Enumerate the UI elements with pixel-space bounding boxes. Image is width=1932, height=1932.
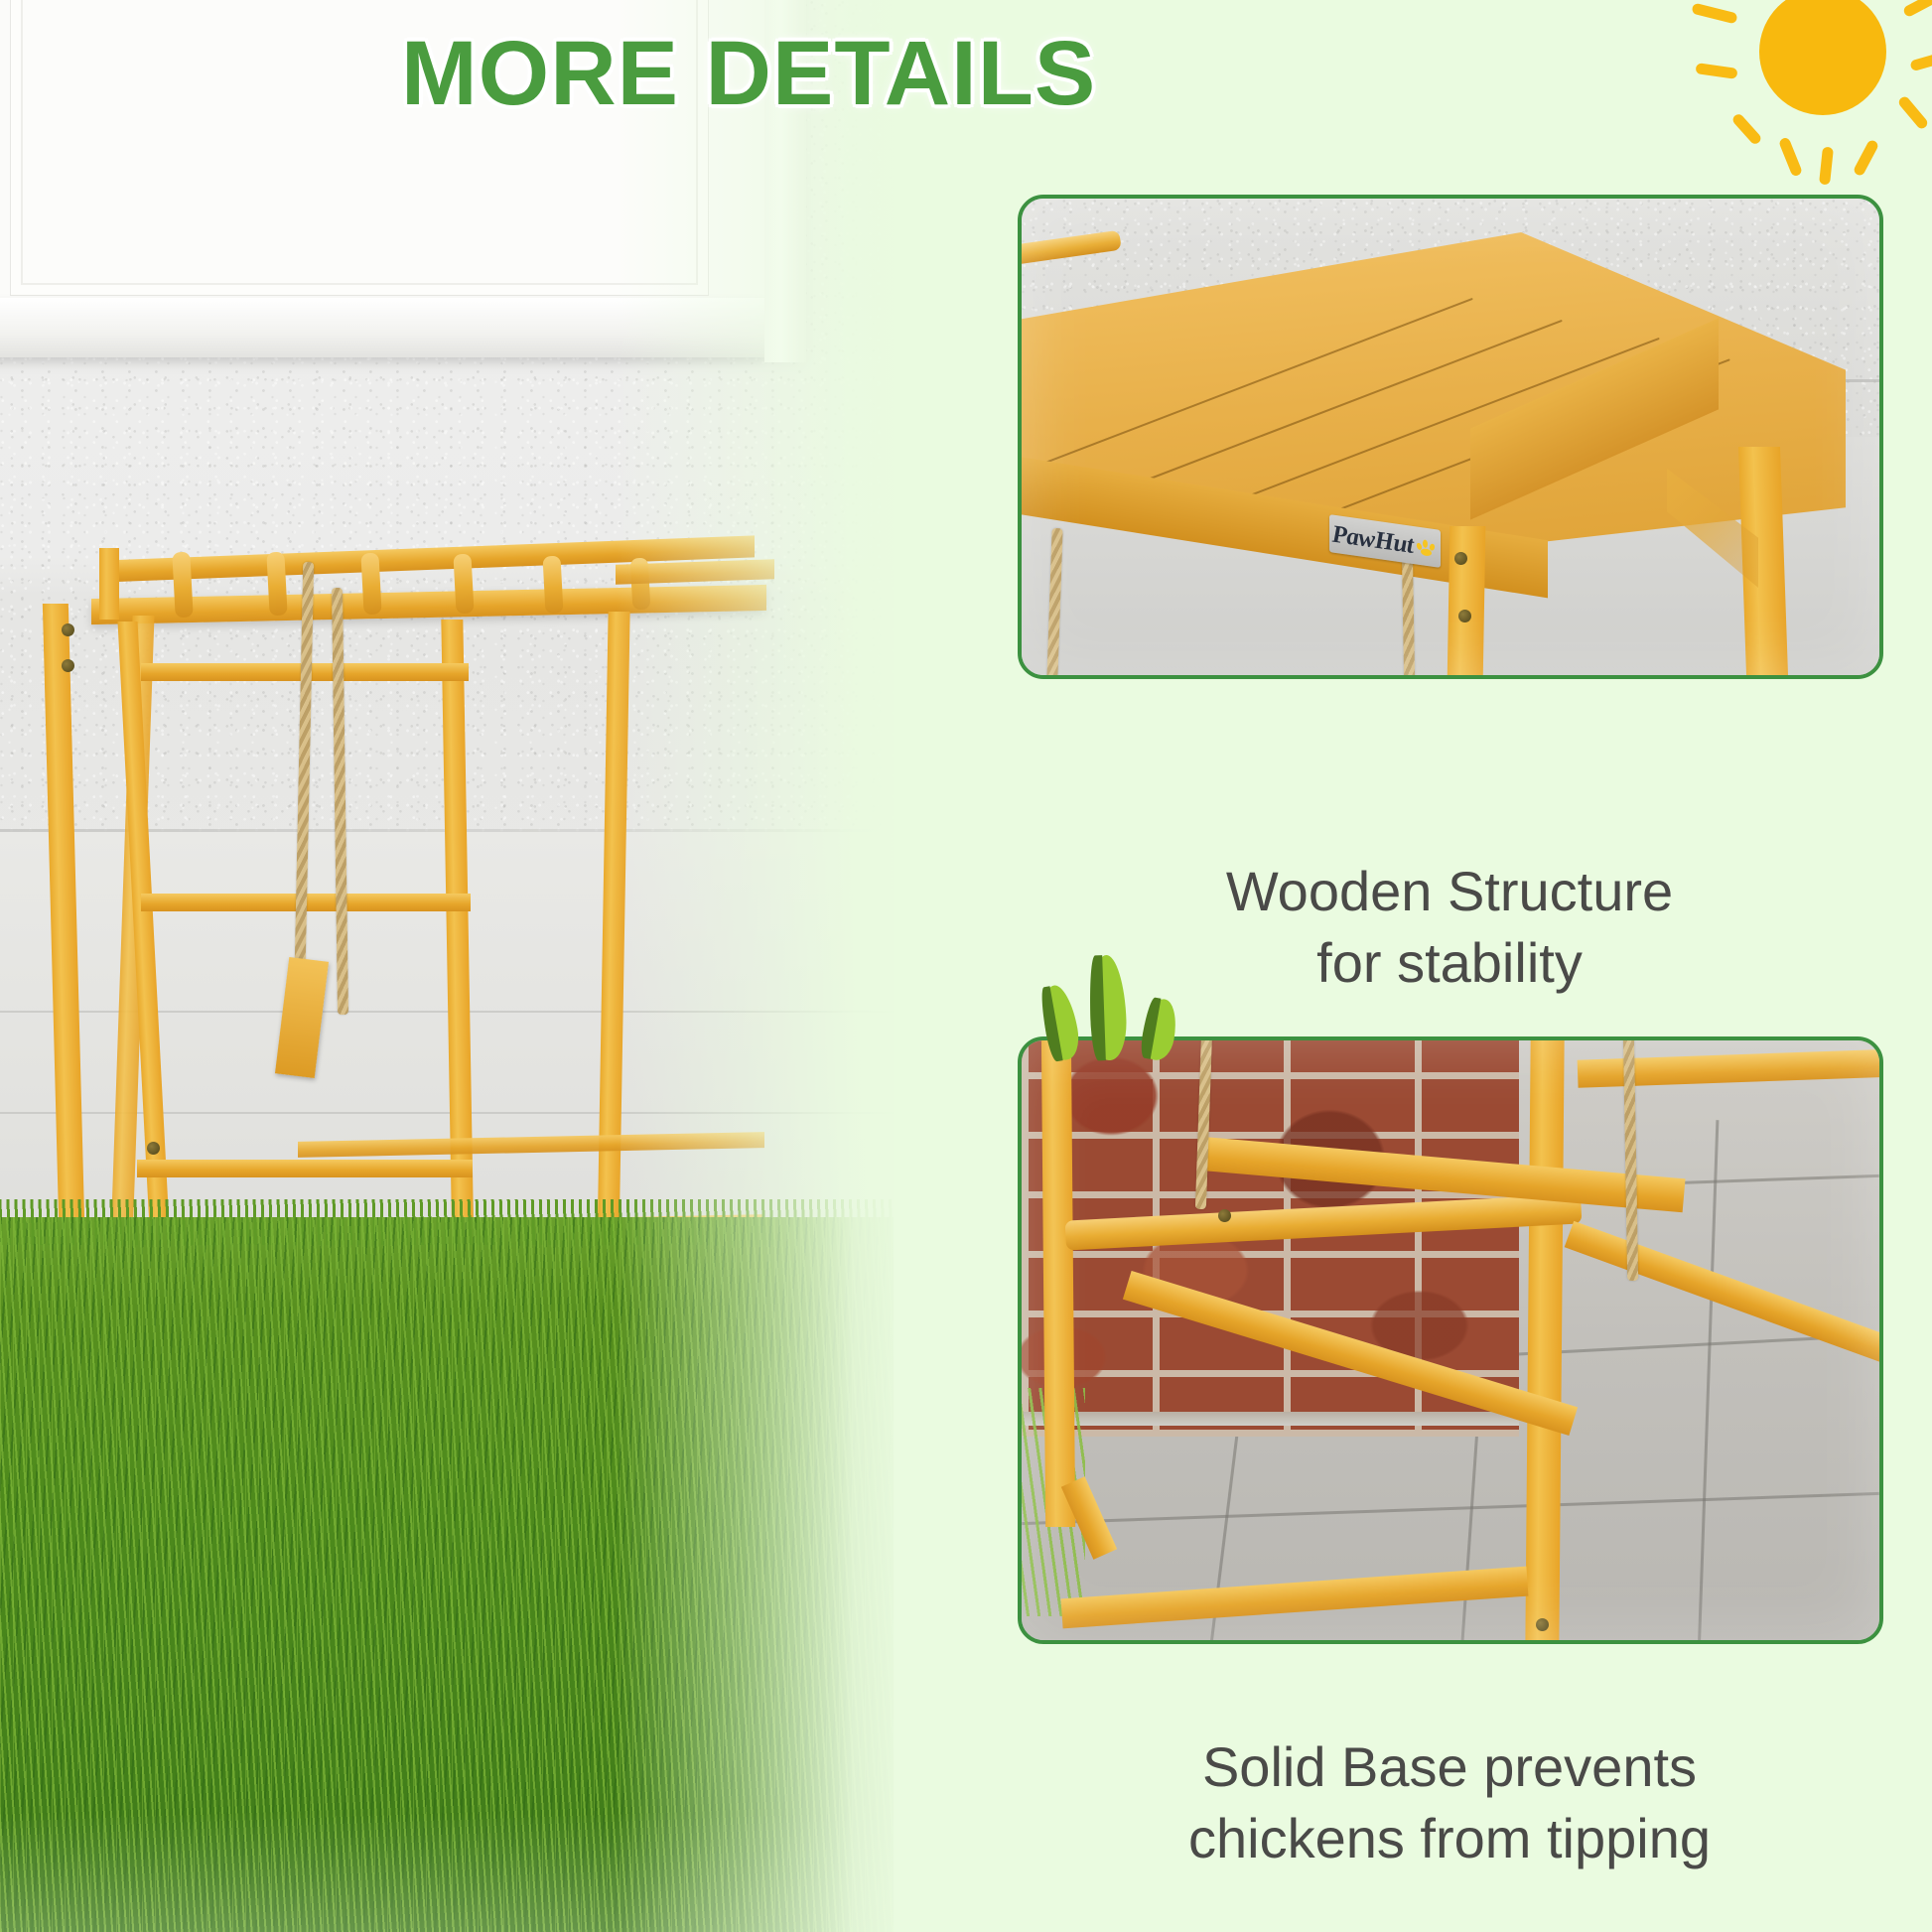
detail-photo-wooden-structure: PawHut — [1018, 195, 1883, 679]
swing-rope-right — [1402, 552, 1415, 679]
sun-icon — [1600, 0, 1932, 207]
screw — [1458, 610, 1471, 622]
sun-ray — [1902, 0, 1932, 18]
screw — [1536, 1618, 1549, 1631]
sun-ray — [1691, 3, 1737, 25]
sun-ray — [1778, 136, 1803, 177]
caption-wooden-structure: Wooden Structure for stability — [993, 856, 1906, 998]
table-leg-front — [1448, 526, 1486, 679]
brick-wall-base — [1022, 1412, 1519, 1426]
screw — [62, 623, 74, 636]
hero-bottom-fade — [0, 1813, 894, 1932]
detail-photo-solid-base — [1018, 1036, 1883, 1644]
monkey-bar-dowel — [172, 552, 193, 619]
caption-solid-base: Solid Base prevents chickens from tippin… — [993, 1731, 1906, 1873]
sun-ray — [1730, 112, 1762, 146]
monkey-bar-dowel — [542, 556, 563, 615]
paver-joint — [1698, 1120, 1720, 1644]
screw — [1454, 552, 1467, 565]
monkey-bar-dowel — [266, 552, 287, 617]
screw — [1218, 1209, 1231, 1222]
slat-groove — [1036, 298, 1472, 467]
sun-ray — [1695, 63, 1737, 79]
frame-top-left-post — [99, 548, 119, 620]
base-post-left — [1041, 1036, 1075, 1527]
paver-joint — [1022, 1492, 1879, 1525]
caption-line-2: for stability — [993, 927, 1906, 999]
sun-ray — [1897, 94, 1930, 130]
ladder-rung — [137, 1160, 473, 1177]
caption-line-1: Wooden Structure — [993, 856, 1906, 927]
screw — [147, 1142, 160, 1155]
base-post-center — [1525, 1036, 1564, 1644]
sun-core — [1759, 0, 1886, 115]
page-title: MORE DETAILS — [401, 22, 1175, 126]
screw — [62, 659, 74, 672]
hero-right-fade — [616, 0, 894, 1932]
hero-product-photo — [0, 0, 894, 1932]
pawhut-brand-text: PawHut — [1332, 521, 1414, 557]
caption-line-2: chickens from tipping — [993, 1803, 1906, 1874]
monkey-bar-dowel — [453, 554, 474, 615]
caption-line-1: Solid Base prevents — [993, 1731, 1906, 1803]
sun-ray — [1909, 51, 1932, 72]
sun-ray — [1853, 139, 1880, 178]
sun-ray — [1819, 147, 1834, 186]
paw-print-icon — [1416, 536, 1438, 557]
monkey-bar-dowel — [360, 553, 381, 616]
